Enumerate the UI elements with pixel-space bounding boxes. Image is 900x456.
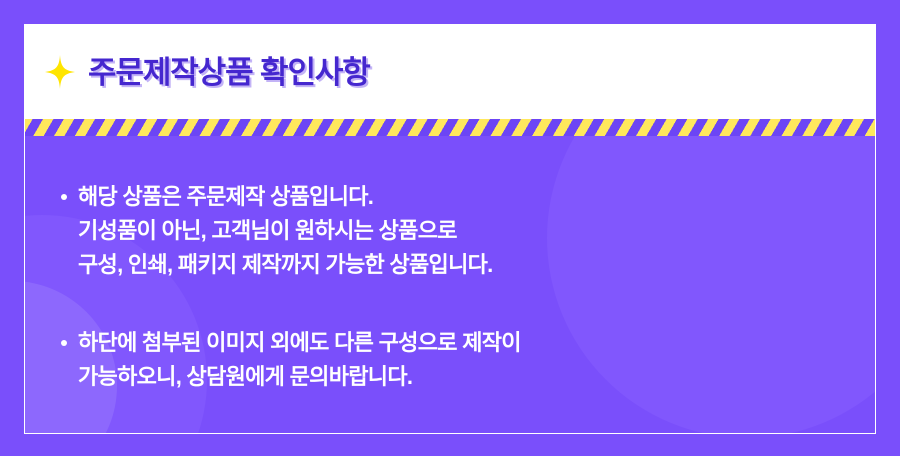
list-item-line: 해당 상품은 주문제작 상품입니다. xyxy=(78,180,493,214)
notice-card: 주문제작상품 확인사항 해당 상품은 주문제작 상품입니다. 기성품이 아닌, … xyxy=(24,24,876,434)
list-item-text: 해당 상품은 주문제작 상품입니다. 기성품이 아닌, 고객님이 원하시는 상품… xyxy=(78,180,493,282)
notice-list: 해당 상품은 주문제작 상품입니다. 기성품이 아닌, 고객님이 원하시는 상품… xyxy=(25,136,875,394)
list-item-text: 하단에 첨부된 이미지 외에도 다른 구성으로 제작이 가능하오니, 상담원에게… xyxy=(78,326,521,394)
card-header: 주문제작상품 확인사항 xyxy=(25,25,875,119)
custom-order-notice-banner: 주문제작상품 확인사항 해당 상품은 주문제작 상품입니다. 기성품이 아닌, … xyxy=(0,0,900,456)
hazard-stripe-divider xyxy=(25,119,875,136)
list-item-line: 구성, 인쇄, 패키지 제작까지 가능한 상품입니다. xyxy=(78,248,493,282)
list-item-line: 하단에 첨부된 이미지 외에도 다른 구성으로 제작이 xyxy=(78,326,521,360)
sparkle-icon xyxy=(45,55,75,89)
list-item: 해당 상품은 주문제작 상품입니다. 기성품이 아닌, 고객님이 원하시는 상품… xyxy=(61,180,875,282)
list-item-line: 기성품이 아닌, 고객님이 원하시는 상품으로 xyxy=(78,214,493,248)
bullet-dot-icon xyxy=(61,340,67,346)
card-body: 해당 상품은 주문제작 상품입니다. 기성품이 아닌, 고객님이 원하시는 상품… xyxy=(25,136,875,433)
list-item-line: 가능하오니, 상담원에게 문의바랍니다. xyxy=(78,360,521,394)
list-item: 하단에 첨부된 이미지 외에도 다른 구성으로 제작이 가능하오니, 상담원에게… xyxy=(61,326,875,394)
bullet-dot-icon xyxy=(61,194,67,200)
page-title: 주문제작상품 확인사항 xyxy=(88,57,370,88)
